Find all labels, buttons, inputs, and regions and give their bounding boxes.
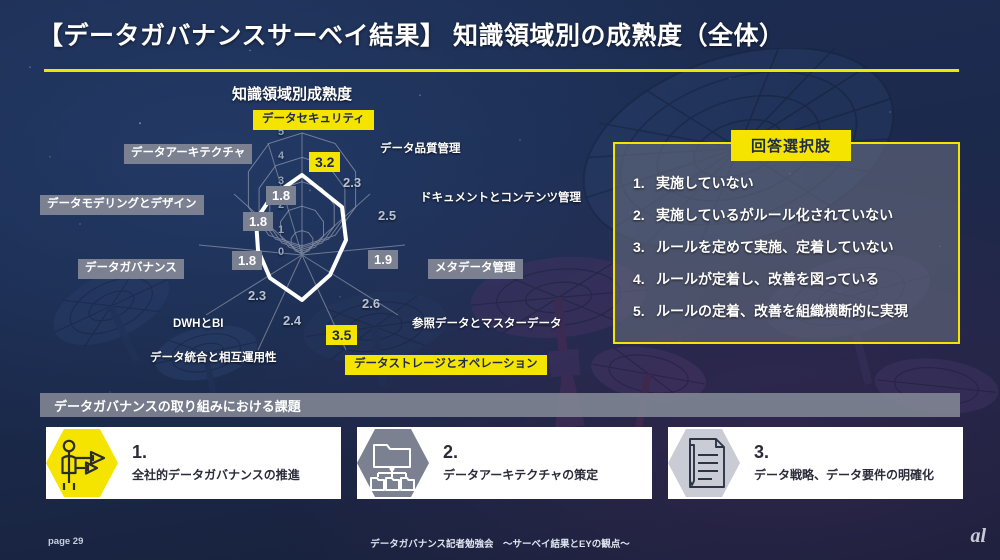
radar-label-data-governance: データガバナンス	[78, 259, 184, 279]
radar-value-data-security: 3.2	[309, 152, 340, 172]
answer-option-5-text: ルールの定着、改善を組織横断的に実現	[656, 301, 908, 321]
answer-option-3-number: 3.	[633, 239, 649, 255]
radar-value-data-quality: 2.3	[343, 176, 361, 189]
radar-value-metadata: 1.9	[368, 250, 398, 269]
title-underline-rule	[44, 69, 959, 72]
answer-option-2: 2. 実施しているがルール化されていない	[633, 205, 908, 225]
radar-tick-4: 4	[278, 150, 284, 162]
answer-option-1-number: 1.	[633, 175, 649, 191]
answer-option-4-number: 4.	[633, 271, 649, 287]
radar-value-modeling-design: 1.8	[243, 212, 273, 231]
issue-card-3-text: 3. データ戦略、データ要件の明確化	[740, 443, 934, 483]
answer-options-list: 1. 実施していない 2. 実施しているがルール化されていない 3. ルールを定…	[633, 173, 908, 333]
answer-option-2-number: 2.	[633, 207, 649, 223]
issue-card-1-number: 1.	[132, 443, 300, 462]
radar-label-storage-operations: データストレージとオペレーション	[345, 355, 547, 375]
answer-option-1-text: 実施していない	[656, 173, 754, 193]
issue-card-1[interactable]: 1. 全社的データガバナンスの推進	[46, 427, 341, 499]
radar-value-reference-master: 2.6	[362, 297, 380, 310]
brand-logo: al	[970, 525, 986, 548]
issue-card-2-description: データアーキテクチャの策定	[443, 466, 598, 483]
answer-option-3-text: ルールを定めて実施、定着していない	[656, 237, 894, 257]
issues-band: データガバナンスの取り組みにおける課題	[40, 393, 960, 417]
slide-root: 【データガバナンスサーベイ結果】 知識領域別の成熟度（全体） 知識領域別成熟度	[0, 0, 1000, 560]
radar-tick-1: 1	[278, 224, 284, 236]
issue-card-1-text: 1. 全社的データガバナンスの推進	[118, 443, 300, 483]
radar-value-dwh-bi: 2.3	[248, 289, 266, 302]
radar-label-data-quality: データ品質管理	[380, 143, 461, 157]
radar-value-integration-interop: 2.4	[283, 314, 301, 327]
radar-label-reference-master: 参照データとマスターデータ	[412, 318, 562, 332]
footer-center-text: データガバナンス記者勉強会 ～サーベイ結果とEYの観点～	[0, 536, 1000, 550]
radar-value-storage-operations: 3.5	[326, 325, 357, 345]
issues-card-list: 1. 全社的データガバナンスの推進	[46, 427, 963, 499]
radar-value-document-content: 2.5	[378, 209, 396, 222]
radar-label-modeling-design: データモデリングとデザイン	[40, 195, 204, 215]
answer-options-title: 回答選択肢	[731, 130, 851, 161]
radar-label-metadata: メタデータ管理	[428, 259, 523, 279]
answer-option-2-text: 実施しているがルール化されていない	[656, 205, 893, 225]
issue-card-2-hexagon	[357, 427, 429, 499]
radar-label-data-security: データセキュリティ	[253, 110, 374, 130]
issue-card-3-number: 3.	[754, 443, 934, 462]
radar-value-data-architecture: 1.8	[266, 186, 296, 205]
radar-value-data-governance: 1.8	[232, 251, 262, 270]
radar-label-dwh-bi: DWHとBI	[173, 318, 223, 332]
answer-option-4: 4. ルールが定着し、改善を図っている	[633, 269, 908, 289]
issue-card-3-description: データ戦略、データ要件の明確化	[754, 466, 934, 483]
answer-option-5: 5. ルールの定着、改善を組織横断的に実現	[633, 301, 908, 321]
answer-option-4-text: ルールが定着し、改善を図っている	[656, 269, 879, 289]
page-title: 【データガバナンスサーベイ結果】 知識領域別の成熟度（全体）	[38, 16, 784, 52]
person-direction-icon	[46, 427, 118, 499]
document-pen-icon	[668, 427, 740, 499]
radar-label-document-content: ドキュメントとコンテンツ管理	[420, 192, 581, 206]
issue-card-1-hexagon	[46, 427, 118, 499]
issue-card-3[interactable]: 3. データ戦略、データ要件の明確化	[668, 427, 963, 499]
issue-card-1-description: 全社的データガバナンスの推進	[132, 466, 300, 483]
radar-label-data-architecture: データアーキテクチャ	[124, 144, 252, 164]
answer-option-3: 3. ルールを定めて実施、定着していない	[633, 237, 908, 257]
radar-label-integration-interop: データ統合と相互運用性	[150, 352, 277, 366]
issue-card-2[interactable]: 2. データアーキテクチャの策定	[357, 427, 652, 499]
folder-hierarchy-icon	[357, 427, 429, 499]
issue-card-3-hexagon	[668, 427, 740, 499]
issues-band-label: データガバナンスの取り組みにおける課題	[40, 396, 301, 415]
answer-option-1: 1. 実施していない	[633, 173, 908, 193]
radar-axis-spokes	[199, 133, 405, 350]
answer-option-5-number: 5.	[633, 303, 649, 319]
issue-card-2-text: 2. データアーキテクチャの策定	[429, 443, 598, 483]
issue-card-2-number: 2.	[443, 443, 598, 462]
radar-tick-0: 0	[278, 246, 284, 258]
